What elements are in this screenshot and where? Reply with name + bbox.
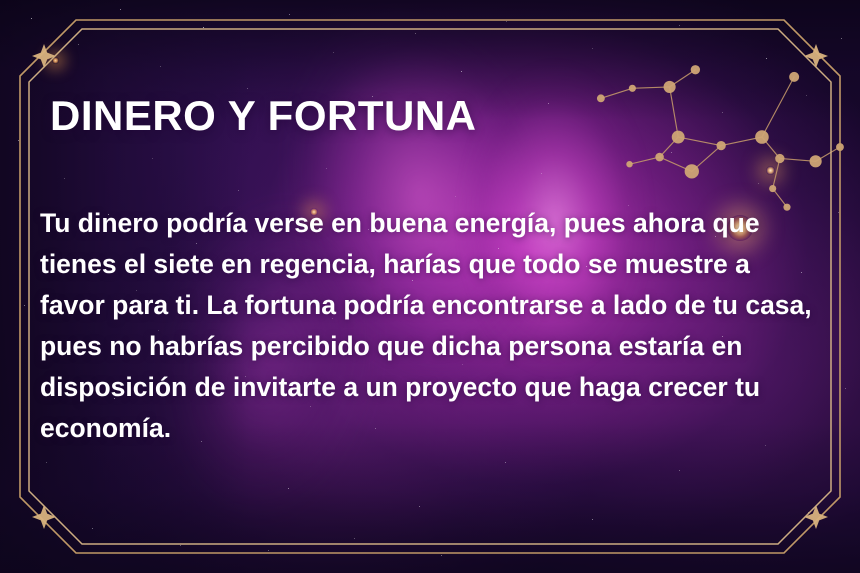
page-title: DINERO Y FORTUNA	[50, 92, 476, 140]
horoscope-body-text: Tu dinero podría verse en buena energía,…	[40, 203, 822, 449]
card-content: DINERO Y FORTUNA Tu dinero podría verse …	[0, 0, 860, 573]
horoscope-card: DINERO Y FORTUNA Tu dinero podría verse …	[0, 0, 860, 573]
